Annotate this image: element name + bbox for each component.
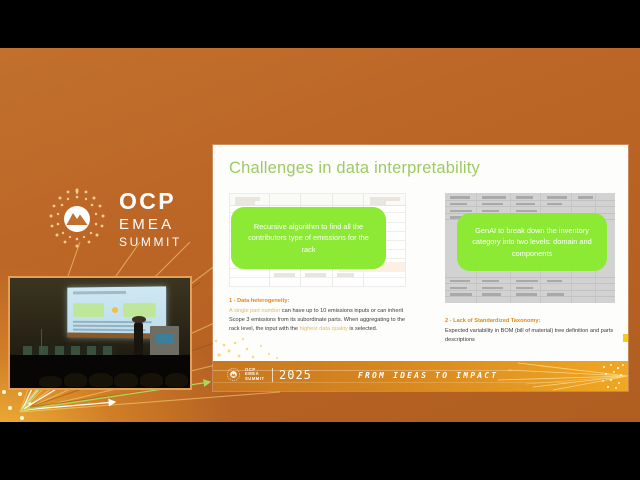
- point-1-body-b: is selected.: [348, 326, 378, 332]
- callout-left: Recursive algorithm to find all the cont…: [231, 207, 386, 269]
- point-1-highlight-b: highest data quality: [300, 326, 348, 332]
- point-1-heading: 1 - Data heterogeneity:: [229, 297, 407, 306]
- letterbox-top: [0, 0, 640, 48]
- footer-logo-summit: SUMMIT: [245, 377, 265, 381]
- point-1-highlight-a: A single part number: [229, 308, 280, 314]
- logo-line-ocp: OCP: [119, 190, 182, 213]
- callout-right: GenAI to break down the inventory catego…: [457, 213, 607, 271]
- point-2-body: Expected variability in BOM (bill of mat…: [445, 328, 613, 343]
- point-1-text: 1 - Data heterogeneity:A single part num…: [229, 297, 407, 334]
- footer-dots-decoration: [600, 361, 626, 391]
- point-2-text: 2 - Lack of Standardized Taxonomy:Expect…: [445, 317, 617, 345]
- footer-ocp-logo: OCP EMEA SUMMIT: [227, 368, 265, 381]
- ocp-emea-summit-logo: OCP EMEA SUMMIT: [44, 176, 194, 262]
- presentation-video-frame: OCP EMEA SUMMIT: [0, 48, 640, 422]
- slide-title: Challenges in data interpretability: [229, 159, 480, 178]
- audience-seating: [10, 355, 190, 388]
- slide-sparkle-decoration: [213, 335, 343, 361]
- ocp-logo-wordmark: OCP EMEA SUMMIT: [119, 190, 182, 248]
- point-2-heading: 2 - Lack of Standardized Taxonomy:: [445, 317, 617, 326]
- speaker-camera-feed: [8, 276, 192, 390]
- presenter-figure: [134, 322, 143, 355]
- logo-line-emea: EMEA: [119, 217, 182, 232]
- ocp-sunburst-mountain-icon: [44, 186, 110, 252]
- video-player-stage: OCP EMEA SUMMIT: [0, 0, 640, 480]
- plus-icon: [622, 324, 628, 352]
- footer-sunburst-icon: [227, 368, 240, 381]
- slide-footer-bar: OCP EMEA SUMMIT 2025 FROM IDEAS TO IMPAC…: [213, 361, 628, 391]
- presentation-slide: Challenges in data interpretability: [213, 145, 628, 391]
- conference-room-scene: [10, 278, 190, 388]
- letterbox-bottom: [0, 422, 640, 480]
- footer-year: 2025: [279, 368, 312, 382]
- footer-divider: [272, 368, 273, 382]
- logo-line-summit: SUMMIT: [119, 236, 182, 248]
